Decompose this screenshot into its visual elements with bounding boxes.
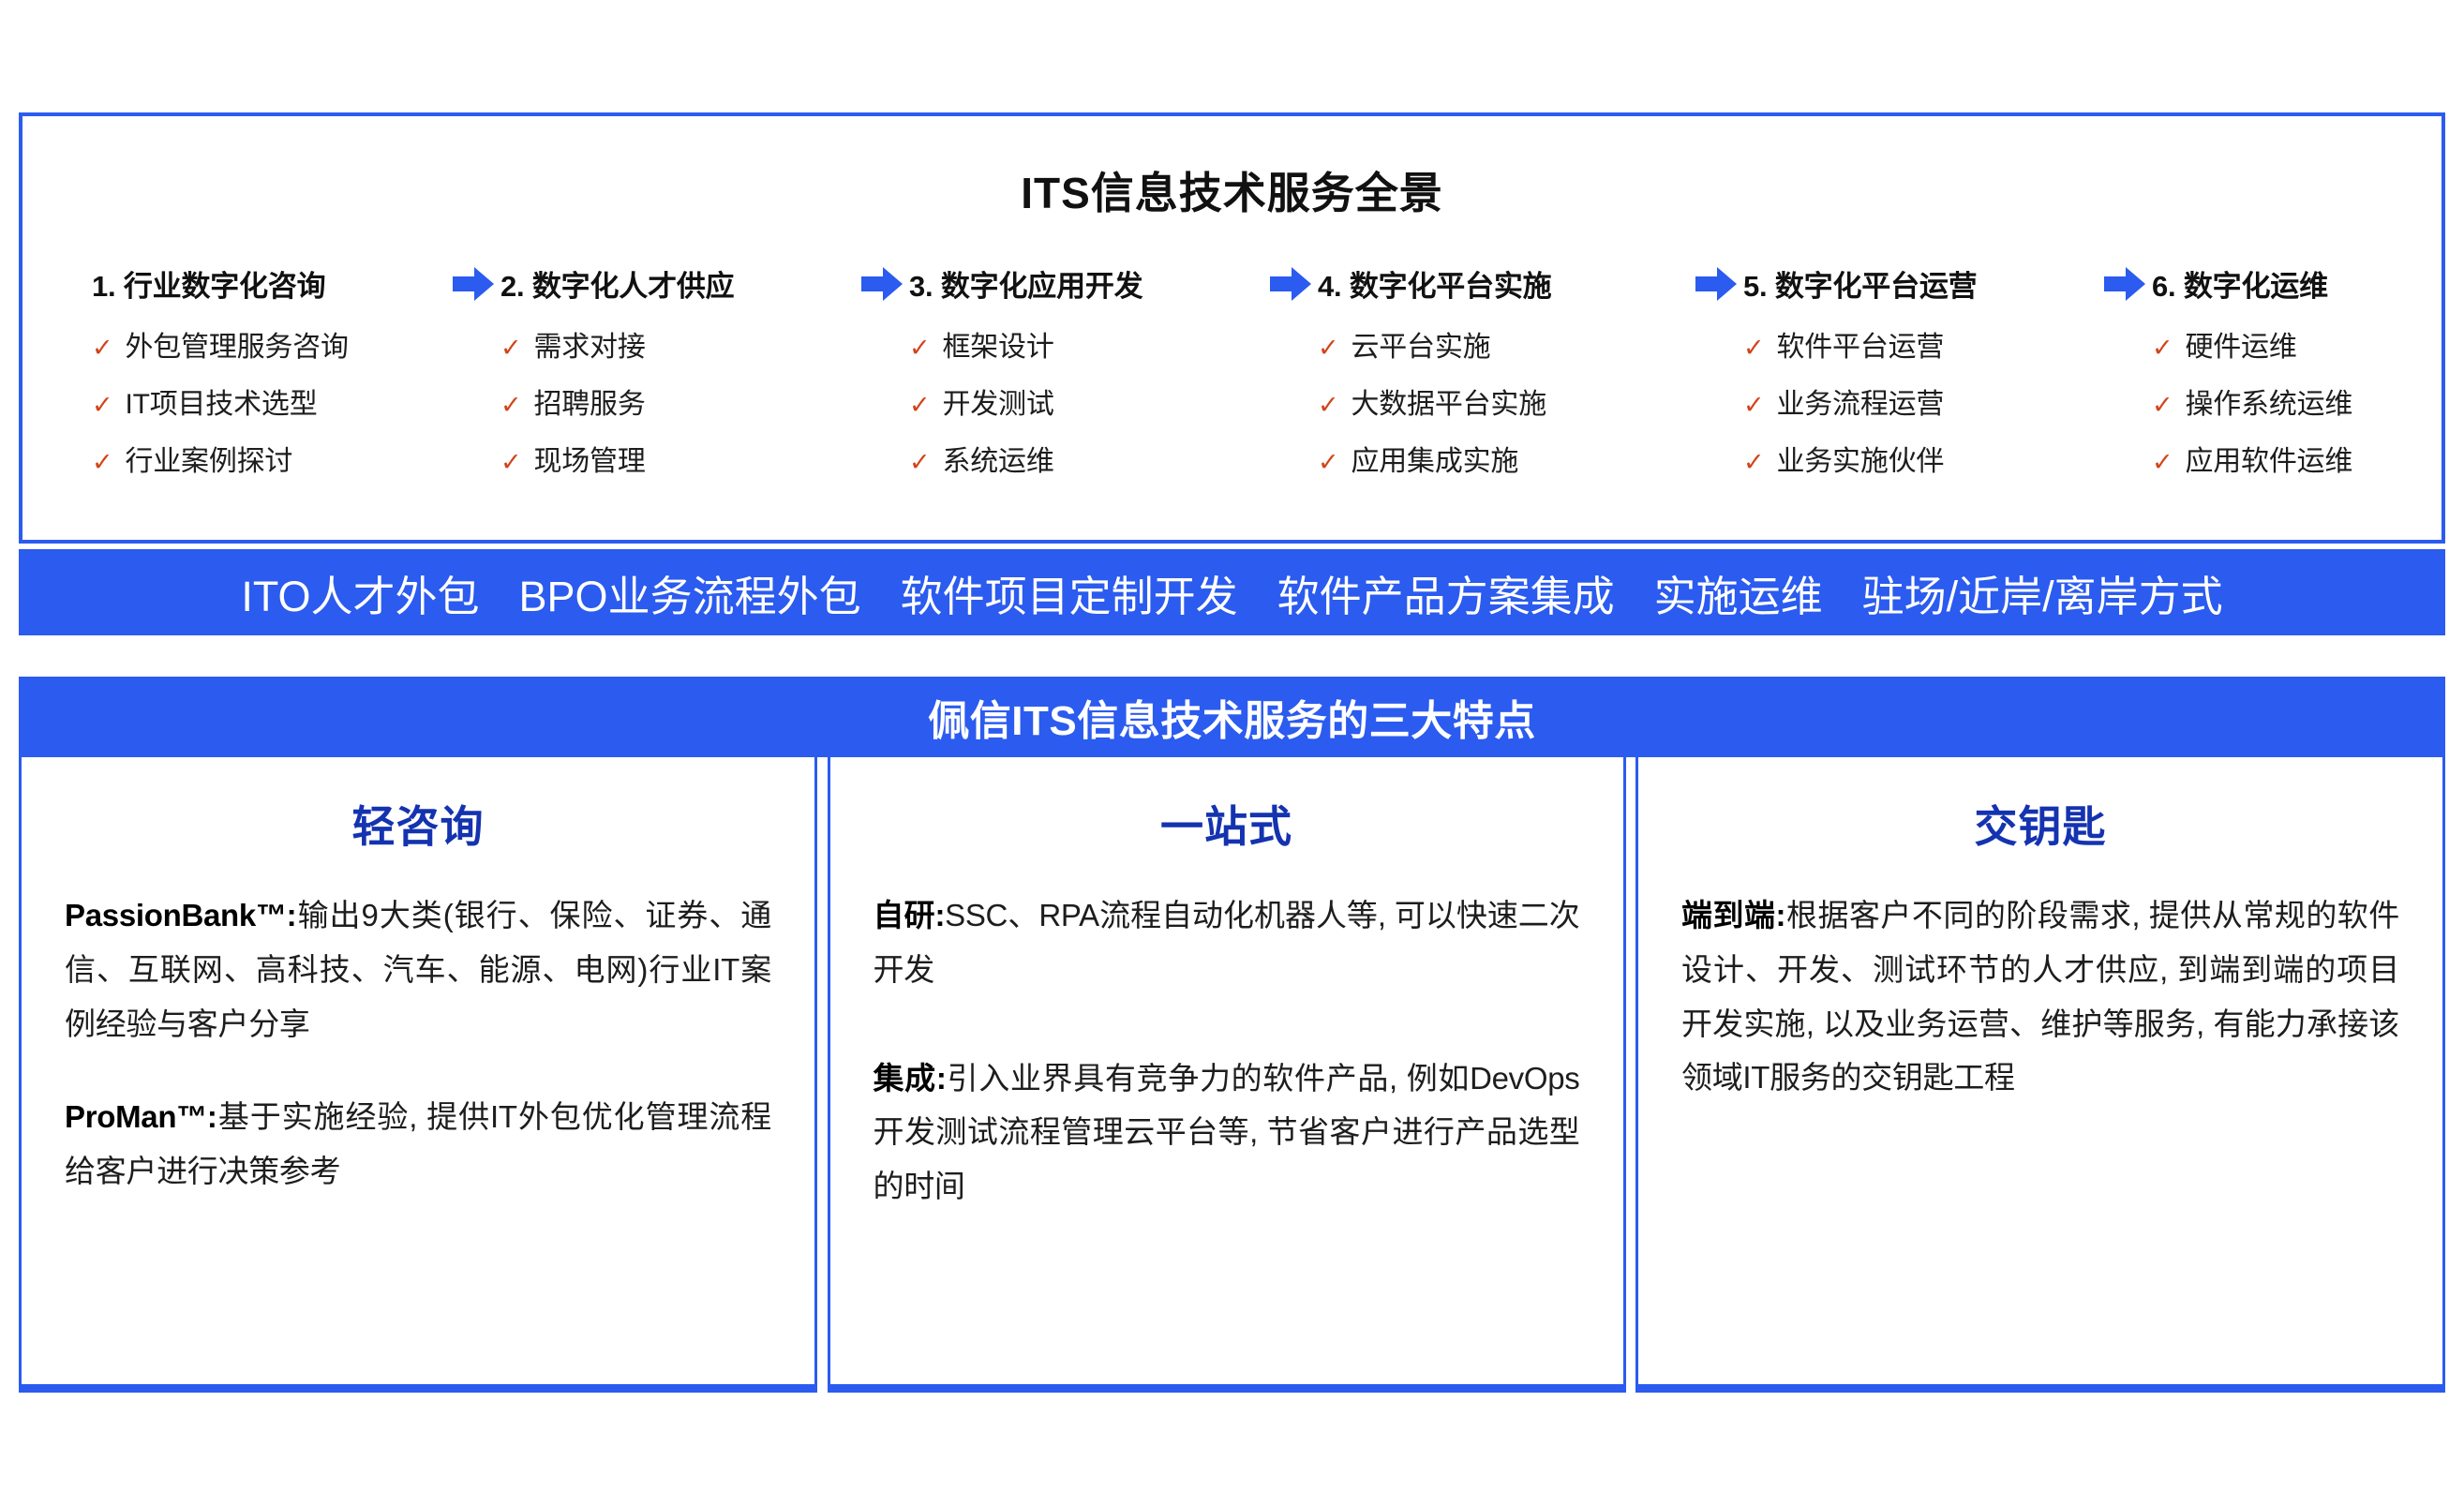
card-paragraph: ProMan™:基于实施经验, 提供IT外包优化管理流程给客户进行决策参考 (65, 1090, 771, 1199)
arrow-right-icon (453, 266, 494, 302)
check-icon: ✓ (909, 450, 930, 475)
card-paragraph: 自研:SSC、RPA流程自动化机器人等, 可以快速二次开发 (874, 888, 1580, 997)
arrow-connector-2 (855, 262, 909, 302)
stage-title: 6. 数字化运维 (2152, 262, 2464, 305)
arrow-right-icon (861, 266, 903, 302)
stage-column-5: 5. 数字化平台运营 ✓ 软件平台运营 ✓ 业务流程运营 ✓ 业务实施伙伴 (1743, 262, 2098, 495)
stage-column-2: 2. 数字化人才供应 ✓ 需求对接 ✓ 招聘服务 ✓ 现场管理 (500, 262, 855, 495)
stage-item-list: ✓ 软件平台运营 ✓ 业务流程运营 ✓ 业务实施伙伴 (1743, 323, 2098, 479)
stage-title: 1. 行业数字化咨询 (92, 262, 446, 305)
check-icon: ✓ (2152, 335, 2173, 361)
arrow-connector-3 (1263, 262, 1318, 302)
stage-column-6: 6. 数字化运维 ✓ 硬件运维 ✓ 操作系统运维 ✓ 应用软件运维 (2152, 262, 2464, 495)
features-header-title: 佩信ITS信息技术服务的三大特点 (928, 687, 1535, 747)
check-icon: ✓ (1318, 393, 1338, 418)
stage-item: ✓ 框架设计 (909, 323, 1263, 365)
service-item-delivery-modes: 驻场/近岸/离岸方式 (1843, 562, 2243, 623)
stage-item-label: 硬件运维 (2185, 323, 2296, 365)
card-paragraph-lead: 集成: (874, 1061, 947, 1096)
stage-item-label: 业务流程运营 (1776, 380, 1944, 422)
stage-item: ✓ 开发测试 (909, 380, 1263, 422)
stage-title: 4. 数字化平台实施 (1318, 262, 1689, 305)
stage-item-list: ✓ 需求对接 ✓ 招聘服务 ✓ 现场管理 (500, 323, 855, 479)
card-body: 端到端:根据客户不同的阶段需求, 提供从常规的软件设计、开发、测试环节的人才供应… (1681, 888, 2399, 1105)
card-paragraph-text: 引入业界具有竞争力的软件产品, 例如DevOps开发测试流程管理云平台等, 节省… (874, 1061, 1580, 1204)
stage-item: ✓ 外包管理服务咨询 (92, 323, 446, 365)
feature-cards-row: 轻咨询 PassionBank™:输出9大类(银行、保险、证券、通信、互联网、高… (19, 757, 2445, 1393)
service-banner: ITO人才外包 BPO业务流程外包 软件项目定制开发 软件产品方案集成 实施运维… (19, 549, 2445, 635)
check-icon: ✓ (2152, 393, 2173, 418)
arrow-right-icon (1270, 266, 1311, 302)
check-icon: ✓ (1743, 450, 1764, 475)
stage-item-label: 软件平台运营 (1776, 323, 1944, 365)
check-icon: ✓ (1318, 335, 1338, 361)
feature-card-light-consulting: 轻咨询 PassionBank™:输出9大类(银行、保险、证券、通信、互联网、高… (19, 757, 817, 1393)
stage-column-4: 4. 数字化平台实施 ✓ 云平台实施 ✓ 大数据平台实施 ✓ 应用集成实施 (1318, 262, 1689, 495)
stage-item: ✓ 行业案例探讨 (92, 438, 446, 479)
stage-item: ✓ 应用软件运维 (2152, 438, 2464, 479)
stage-item-list: ✓ 云平台实施 ✓ 大数据平台实施 ✓ 应用集成实施 (1318, 323, 1689, 479)
stage-item: ✓ 业务流程运营 (1743, 380, 2098, 422)
service-item-ops: 实施运维 (1635, 562, 1843, 623)
stage-item-label: 开发测试 (942, 380, 1053, 422)
arrow-connector-5 (2098, 262, 2152, 302)
check-icon: ✓ (1318, 450, 1338, 475)
arrow-right-icon (2104, 266, 2145, 302)
check-icon: ✓ (92, 450, 112, 475)
check-icon: ✓ (500, 335, 521, 361)
its-overview-panel: ITS信息技术服务全景 1. 行业数字化咨询 ✓ 外包管理服务咨询 ✓ IT项目… (19, 112, 2445, 544)
card-paragraph-lead: 自研: (874, 898, 946, 932)
feature-card-one-stop: 一站式 自研:SSC、RPA流程自动化机器人等, 可以快速二次开发 集成:引入业… (828, 757, 1626, 1393)
stage-item-list: ✓ 框架设计 ✓ 开发测试 ✓ 系统运维 (909, 323, 1263, 479)
card-paragraph-text: 根据客户不同的阶段需求, 提供从常规的软件设计、开发、测试环节的人才供应, 到端… (1681, 898, 2399, 1095)
stage-item: ✓ 硬件运维 (2152, 323, 2464, 365)
stage-item: ✓ 现场管理 (500, 438, 855, 479)
card-title: 一站式 (874, 793, 1580, 855)
card-paragraph: PassionBank™:输出9大类(银行、保险、证券、通信、互联网、高科技、汽… (65, 888, 771, 1051)
stage-item-label: 框架设计 (942, 323, 1053, 365)
feature-card-turnkey: 交钥匙 端到端:根据客户不同的阶段需求, 提供从常规的软件设计、开发、测试环节的… (1635, 757, 2445, 1393)
check-icon: ✓ (1743, 335, 1764, 361)
stage-item: ✓ 业务实施伙伴 (1743, 438, 2098, 479)
stage-row: 1. 行业数字化咨询 ✓ 外包管理服务咨询 ✓ IT项目技术选型 ✓ 行业案例探… (22, 262, 2442, 495)
stage-item-label: 应用集成实施 (1351, 438, 1518, 479)
check-icon: ✓ (2152, 450, 2173, 475)
stage-item: ✓ IT项目技术选型 (92, 380, 446, 422)
stage-item: ✓ 软件平台运营 (1743, 323, 2098, 365)
stage-item: ✓ 需求对接 (500, 323, 855, 365)
card-paragraph-lead: 端到端: (1681, 898, 1785, 932)
arrow-connector-1 (446, 262, 500, 302)
stage-item-label: IT项目技术选型 (125, 380, 317, 422)
check-icon: ✓ (1743, 393, 1764, 418)
check-icon: ✓ (500, 450, 521, 475)
card-body: PassionBank™:输出9大类(银行、保险、证券、通信、互联网、高科技、汽… (65, 888, 771, 1199)
stage-item-label: 需求对接 (533, 323, 645, 365)
stage-item-list: ✓ 硬件运维 ✓ 操作系统运维 ✓ 应用软件运维 (2152, 323, 2464, 479)
stage-item-label: 操作系统运维 (2185, 380, 2352, 422)
card-paragraph-lead: PassionBank™: (65, 898, 296, 932)
stage-item: ✓ 操作系统运维 (2152, 380, 2464, 422)
stage-title: 5. 数字化平台运营 (1743, 262, 2098, 305)
check-icon: ✓ (92, 335, 112, 361)
check-icon: ✓ (92, 393, 112, 418)
page-title: ITS信息技术服务全景 (22, 159, 2442, 221)
check-icon: ✓ (909, 335, 930, 361)
stage-item-label: 现场管理 (533, 438, 645, 479)
stage-item-label: 大数据平台实施 (1351, 380, 1546, 422)
arrow-connector-4 (1689, 262, 1743, 302)
card-paragraph: 端到端:根据客户不同的阶段需求, 提供从常规的软件设计、开发、测试环节的人才供应… (1681, 888, 2399, 1105)
stage-item-label: 业务实施伙伴 (1776, 438, 1944, 479)
stage-item: ✓ 大数据平台实施 (1318, 380, 1689, 422)
card-paragraph: 集成:引入业界具有竞争力的软件产品, 例如DevOps开发测试流程管理云平台等,… (874, 1051, 1580, 1214)
stage-title: 2. 数字化人才供应 (500, 262, 855, 305)
stage-item: ✓ 应用集成实施 (1318, 438, 1689, 479)
stage-title: 3. 数字化应用开发 (909, 262, 1263, 305)
stage-item-label: 招聘服务 (533, 380, 645, 422)
check-icon: ✓ (500, 393, 521, 418)
stage-item: ✓ 系统运维 (909, 438, 1263, 479)
stage-item-label: 系统运维 (942, 438, 1053, 479)
features-header: 佩信ITS信息技术服务的三大特点 (19, 677, 2445, 757)
card-paragraph-text: SSC、RPA流程自动化机器人等, 可以快速二次开发 (874, 898, 1580, 987)
service-list: ITO人才外包 BPO业务流程外包 软件项目定制开发 软件产品方案集成 实施运维… (221, 562, 2242, 623)
stage-item-label: 云平台实施 (1351, 323, 1490, 365)
service-item-ito: ITO人才外包 (221, 562, 499, 623)
service-item-product-integration: 软件产品方案集成 (1258, 562, 1635, 623)
stage-column-1: 1. 行业数字化咨询 ✓ 外包管理服务咨询 ✓ IT项目技术选型 ✓ 行业案例探… (92, 262, 446, 495)
service-item-bpo: BPO业务流程外包 (500, 562, 881, 623)
stage-item: ✓ 云平台实施 (1318, 323, 1689, 365)
card-body: 自研:SSC、RPA流程自动化机器人等, 可以快速二次开发 集成:引入业界具有竞… (874, 888, 1580, 1214)
stage-item-label: 外包管理服务咨询 (125, 323, 348, 365)
stage-item-label: 行业案例探讨 (125, 438, 292, 479)
card-title: 交钥匙 (1681, 793, 2399, 855)
arrow-right-icon (1695, 266, 1737, 302)
card-paragraph-lead: ProMan™: (65, 1099, 217, 1134)
card-title: 轻咨询 (65, 793, 771, 855)
stage-item-list: ✓ 外包管理服务咨询 ✓ IT项目技术选型 ✓ 行业案例探讨 (92, 323, 446, 479)
service-item-custom-dev: 软件项目定制开发 (881, 562, 1258, 623)
check-icon: ✓ (909, 393, 930, 418)
stage-item: ✓ 招聘服务 (500, 380, 855, 422)
stage-item-label: 应用软件运维 (2185, 438, 2352, 479)
stage-column-3: 3. 数字化应用开发 ✓ 框架设计 ✓ 开发测试 ✓ 系统运维 (909, 262, 1263, 495)
